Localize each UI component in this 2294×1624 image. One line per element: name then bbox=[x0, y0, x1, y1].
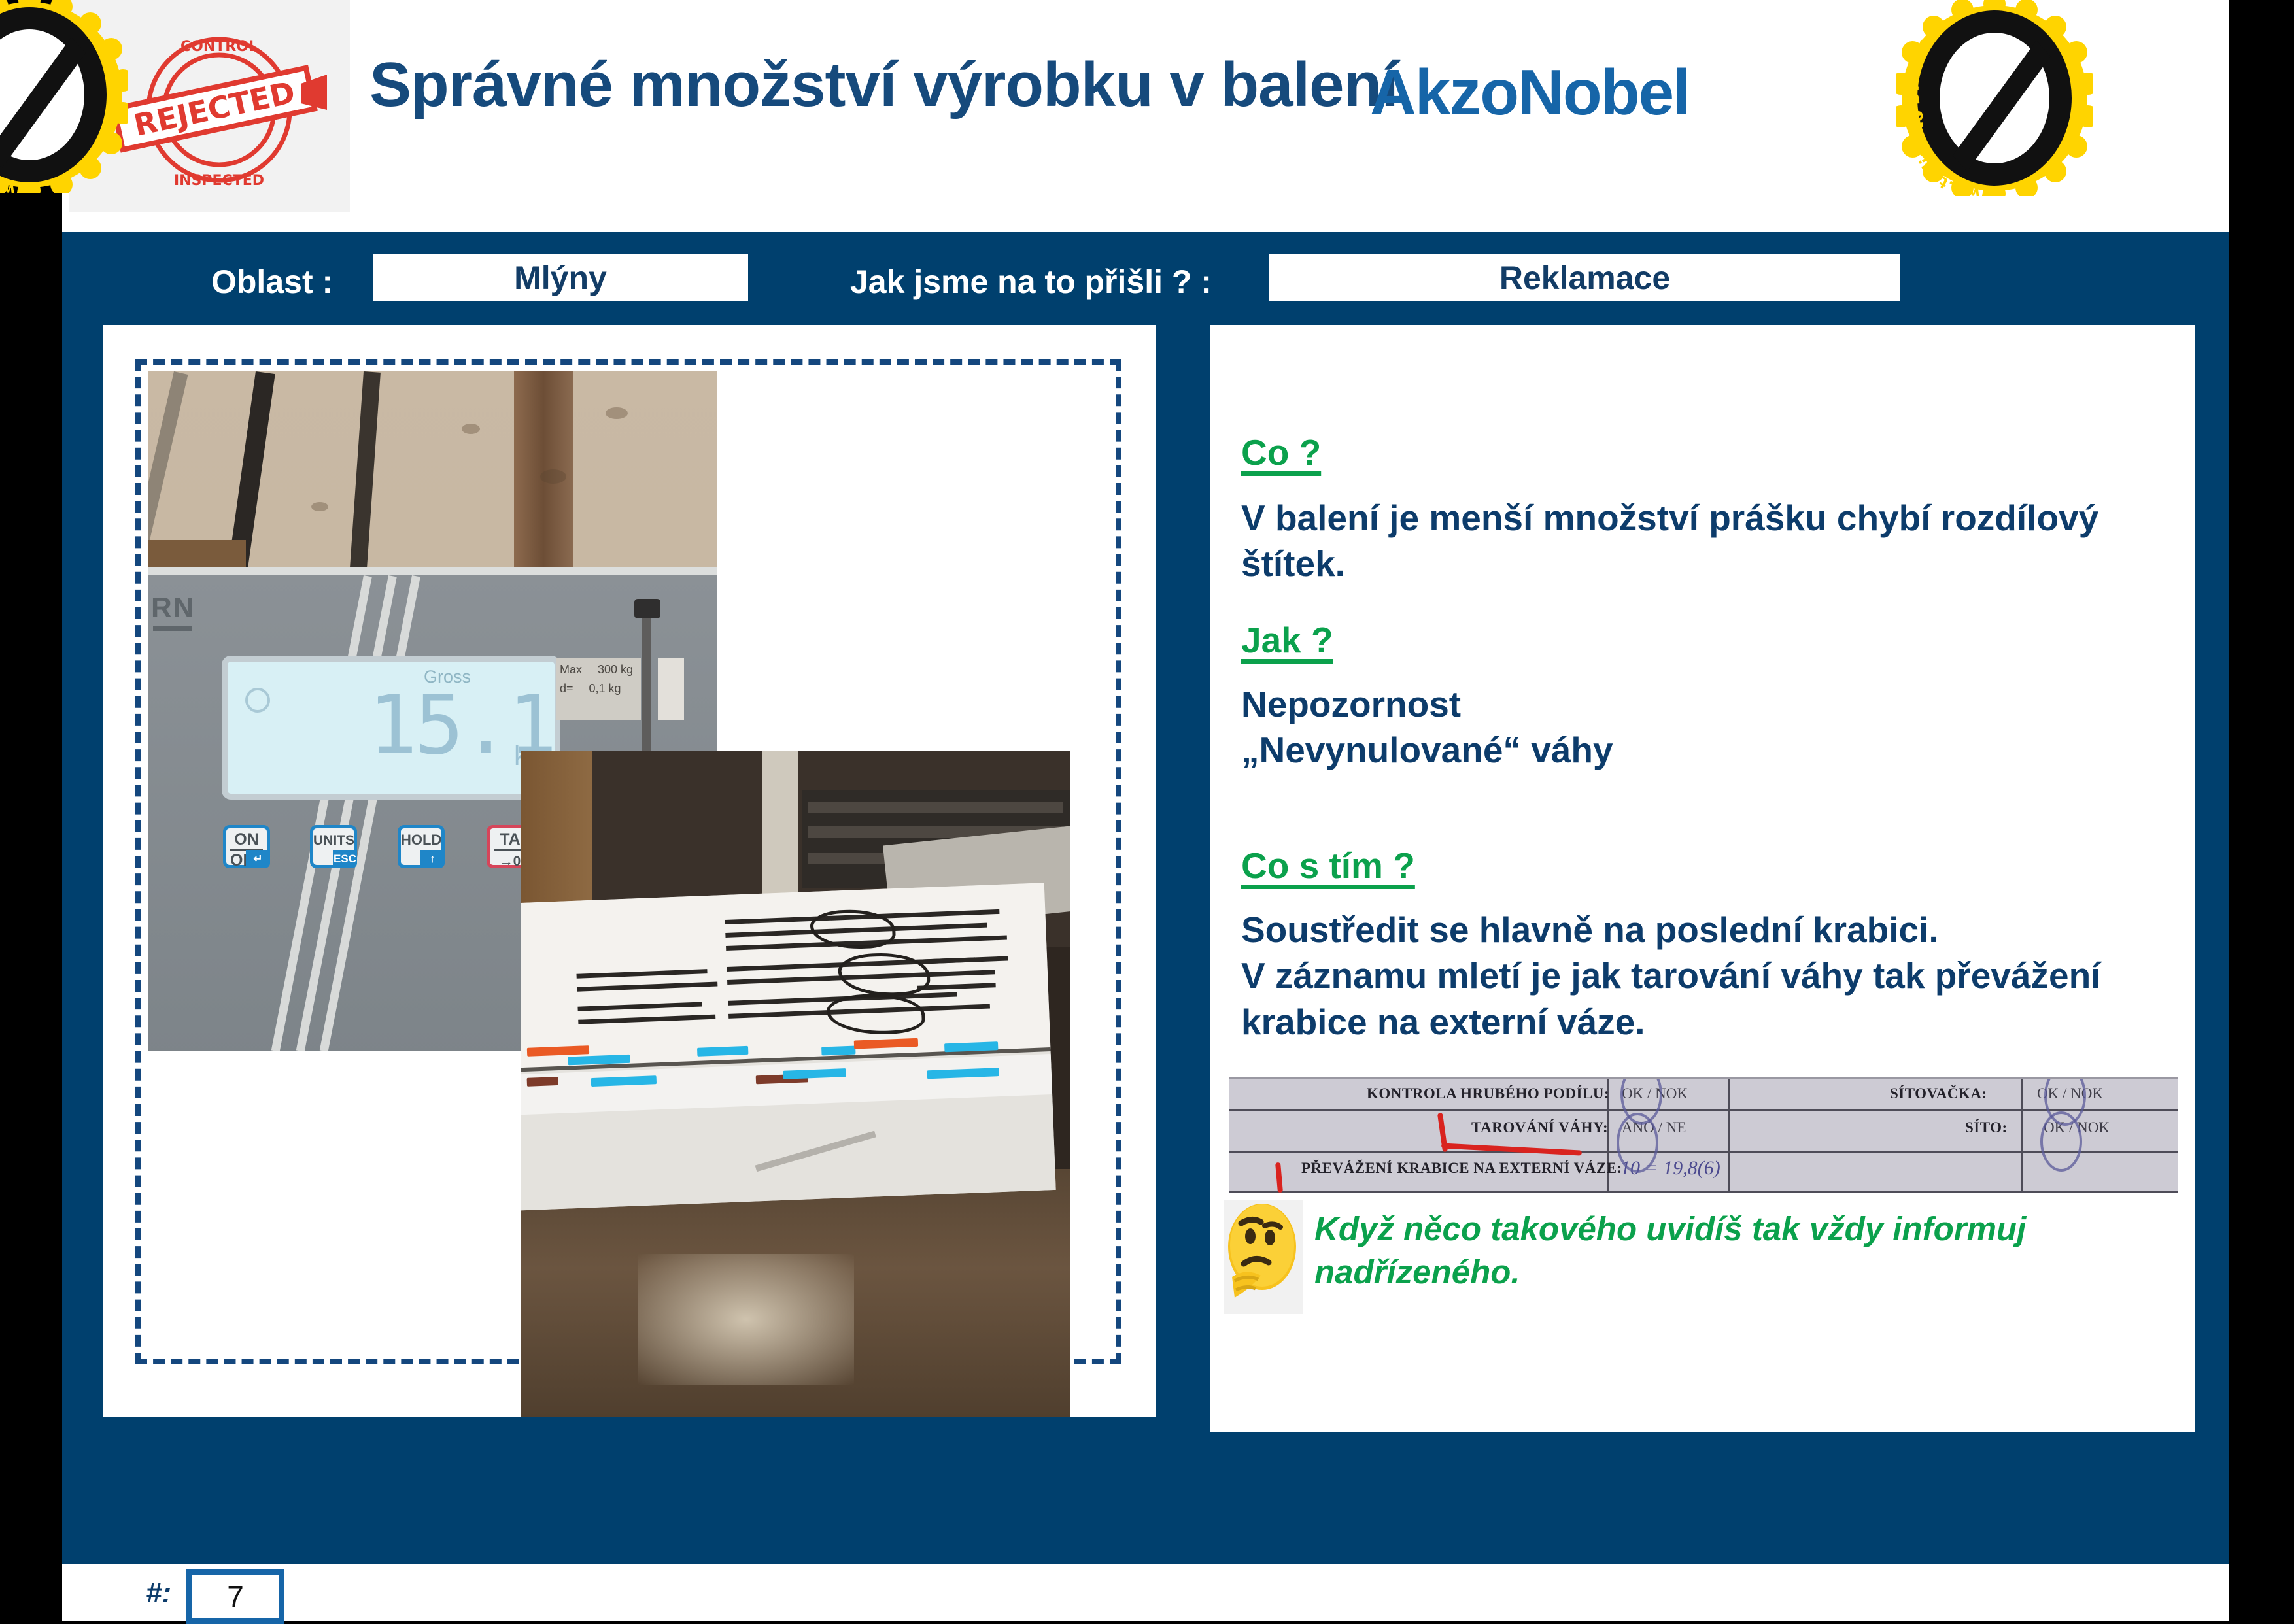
slide-canvas: CONTROL INSPECTED REJECTED Správné množs… bbox=[62, 0, 2229, 1621]
explanation-panel: Co ? V balení je menší množství prášku c… bbox=[1210, 325, 2195, 1432]
scale-spec-plate: Max 300 kg d= 0,1 kg bbox=[556, 658, 641, 720]
field-value-how[interactable]: Reklamace bbox=[1269, 254, 1900, 301]
svg-text:CONTROL: CONTROL bbox=[180, 39, 258, 55]
photo-panel: RN Gross 15.1 kg Max bbox=[103, 325, 1156, 1417]
spec-d-value: 0,1 kg bbox=[589, 682, 621, 696]
button-hold-top: HOLD bbox=[401, 832, 441, 848]
scale-lcd-display: Gross 15.1 kg bbox=[222, 656, 560, 800]
spec-d-label: d= bbox=[560, 682, 573, 696]
record-row1-label2: SÍTOVAČKA: bbox=[1890, 1085, 1987, 1102]
record-row2-label: TAROVÁNÍ VÁHY: bbox=[1471, 1119, 1608, 1136]
akzonobel-logo: AkzoNobel bbox=[1370, 56, 1689, 129]
heading-how: Jak ? bbox=[1241, 619, 1333, 661]
scale-brand-label: RN bbox=[151, 592, 196, 624]
text-action: Soustředit se hlavně na poslední krabici… bbox=[1241, 907, 2196, 1045]
heading-what: Co ? bbox=[1241, 431, 1321, 473]
svg-text:INSPECTED: INSPECTED bbox=[174, 173, 264, 189]
spec-max-label: Max bbox=[560, 663, 582, 677]
thinking-face-icon bbox=[1224, 1200, 1303, 1314]
button-units-top: UNITS bbox=[313, 833, 354, 848]
footer: #: 7 bbox=[62, 1564, 2229, 1621]
page-label: #: bbox=[146, 1577, 171, 1610]
scale-button-units[interactable]: UNITS ESC bbox=[310, 825, 357, 868]
page-title: Správné množství výrobku v balení bbox=[369, 49, 1481, 121]
thinking-face-emoji bbox=[1224, 1200, 1303, 1314]
mill-record-snippet-photo: KONTROLA HRUBÉHO PODÍLU: OK / NOK SÍTOVA… bbox=[1229, 1077, 2178, 1193]
supervisor-note: Když něco takového uvidíš tak vždy infor… bbox=[1314, 1208, 2178, 1294]
box-surface bbox=[521, 883, 1056, 1211]
photo-dashed-frame: RN Gross 15.1 kg Max bbox=[135, 359, 1121, 1364]
text-how: Nepozornost „Nevynulované“ váhy bbox=[1241, 681, 2157, 773]
spec-max-value: 300 kg bbox=[598, 663, 633, 677]
field-label-oblast: Oblast : bbox=[211, 263, 333, 301]
button-tare-bottom: →0 bbox=[500, 854, 521, 869]
button-hold-sub: ↑ bbox=[420, 850, 445, 868]
heading-action: Co s tím ? bbox=[1241, 845, 1415, 887]
zero-indicator-icon bbox=[245, 688, 270, 713]
field-label-how: Jak jsme na to přišli ? : bbox=[850, 263, 1212, 301]
rejected-inspected-stamp-icon: CONTROL INSPECTED REJECTED bbox=[105, 12, 327, 201]
content-frame: Oblast : Mlýny Jak jsme na to přišli ? :… bbox=[62, 232, 2229, 1564]
button-units-sub: ESC bbox=[333, 850, 357, 868]
button-onoff-top: ON bbox=[234, 830, 259, 849]
header-field-row: Oblast : Mlýny Jak jsme na to přišli ? :… bbox=[62, 232, 2229, 324]
page-number[interactable]: 7 bbox=[186, 1569, 284, 1624]
field-value-oblast[interactable]: Mlýny bbox=[373, 254, 748, 301]
scale-button-hold[interactable]: HOLD ↑ bbox=[398, 825, 445, 868]
carton-box-photo bbox=[521, 751, 1070, 1417]
button-tare-top: TA bbox=[500, 830, 520, 849]
pdfxchange-watermark-right[interactable]: PDF-XChange Product Click to buy NOW! ww… bbox=[1896, 0, 2093, 196]
pdfxchange-watermark-left[interactable]: PDF-XChange Product Click to buy NOW! ww… bbox=[0, 0, 128, 193]
record-row2-label2: SÍTO: bbox=[1965, 1119, 2008, 1136]
text-what: V balení je menší množství prášku chybí … bbox=[1241, 495, 2157, 587]
record-row3-label: PŘEVÁŽENÍ KRABICE NA EXTERNÍ VÁZE: bbox=[1301, 1160, 1622, 1177]
record-row1-label: KONTROLA HRUBÉHO PODÍLU: bbox=[1367, 1085, 1609, 1102]
scale-button-onoff[interactable]: ON OFF ↵ bbox=[223, 825, 270, 868]
button-onoff-sub: ↵ bbox=[246, 850, 270, 868]
